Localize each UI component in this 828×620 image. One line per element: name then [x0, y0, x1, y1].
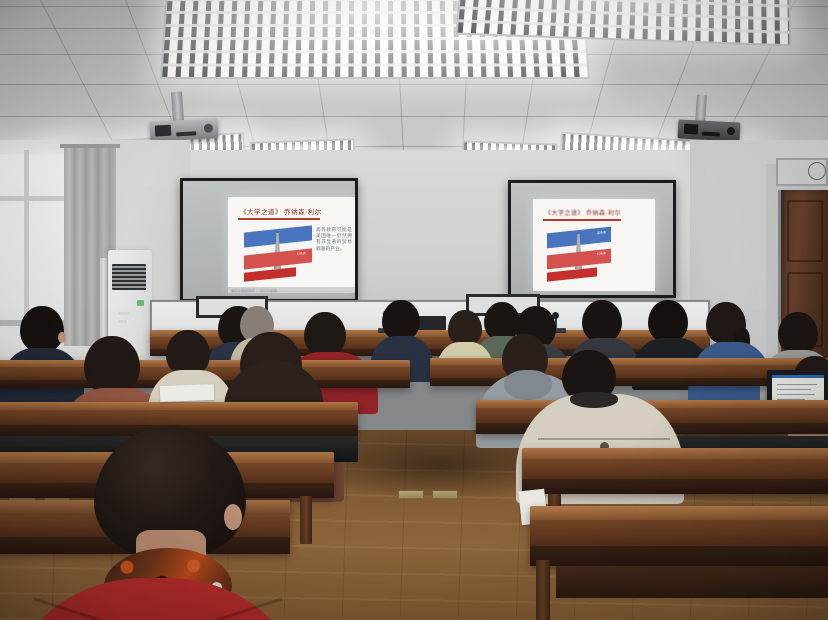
classroom-photo: 《大学之道》 乔纳森·利尔 红色条 高等教育可能是美国唯一仍然拥有非显著的贸易顺…: [0, 0, 828, 620]
papers: [160, 384, 215, 402]
curtain-rail: [60, 144, 120, 148]
bench-leg: [300, 496, 312, 544]
slide-title: 《大学之道》 乔纳森·利尔: [240, 206, 322, 216]
bench-under-shelf: [556, 566, 828, 598]
hood: [504, 370, 552, 400]
slide-body-text: 高等教育可能是美国唯一仍然拥有非显著的贸易顺差的产业。: [316, 227, 352, 252]
left-projection-screen: 《大学之道》 乔纳森·利尔 红色条 高等教育可能是美国唯一仍然拥有非显著的贸易顺…: [180, 178, 358, 302]
ear: [224, 504, 242, 530]
floor-power-socket: [398, 490, 424, 499]
bench-row-1-right: [530, 506, 828, 566]
coat-collar: [570, 392, 618, 408]
floor-power-socket: [432, 490, 458, 499]
left-slide: 《大学之道》 乔纳森·利尔 红色条 高等教育可能是美国唯一仍然拥有非显著的贸易顺…: [228, 197, 355, 293]
wall-cable-icon: [808, 162, 826, 180]
slide-bar-label: 蓝色条: [597, 231, 606, 235]
slide-bar-label: 红色条: [597, 252, 606, 256]
right-slide: 《大学之道》 乔纳森·利尔 蓝色条 红色条 摄像头 预览: [533, 199, 655, 291]
coat-seam: [538, 438, 670, 440]
bench-row-2-right: [522, 448, 828, 494]
slide-bar-label: 红色条: [297, 252, 306, 256]
right-projection-screen: 《大学之道》 乔纳森·利尔 蓝色条 红色条 摄像头 预览: [508, 180, 676, 298]
slide-taskbar-text: 演示文稿放映中 — 幻灯片放映: [231, 288, 277, 293]
bench-leg: [536, 560, 550, 620]
slide-title: 《大学之道》 乔纳森·利尔: [545, 208, 621, 217]
slide-taskbar: 演示文稿放映中 — 幻灯片放映: [228, 287, 355, 293]
